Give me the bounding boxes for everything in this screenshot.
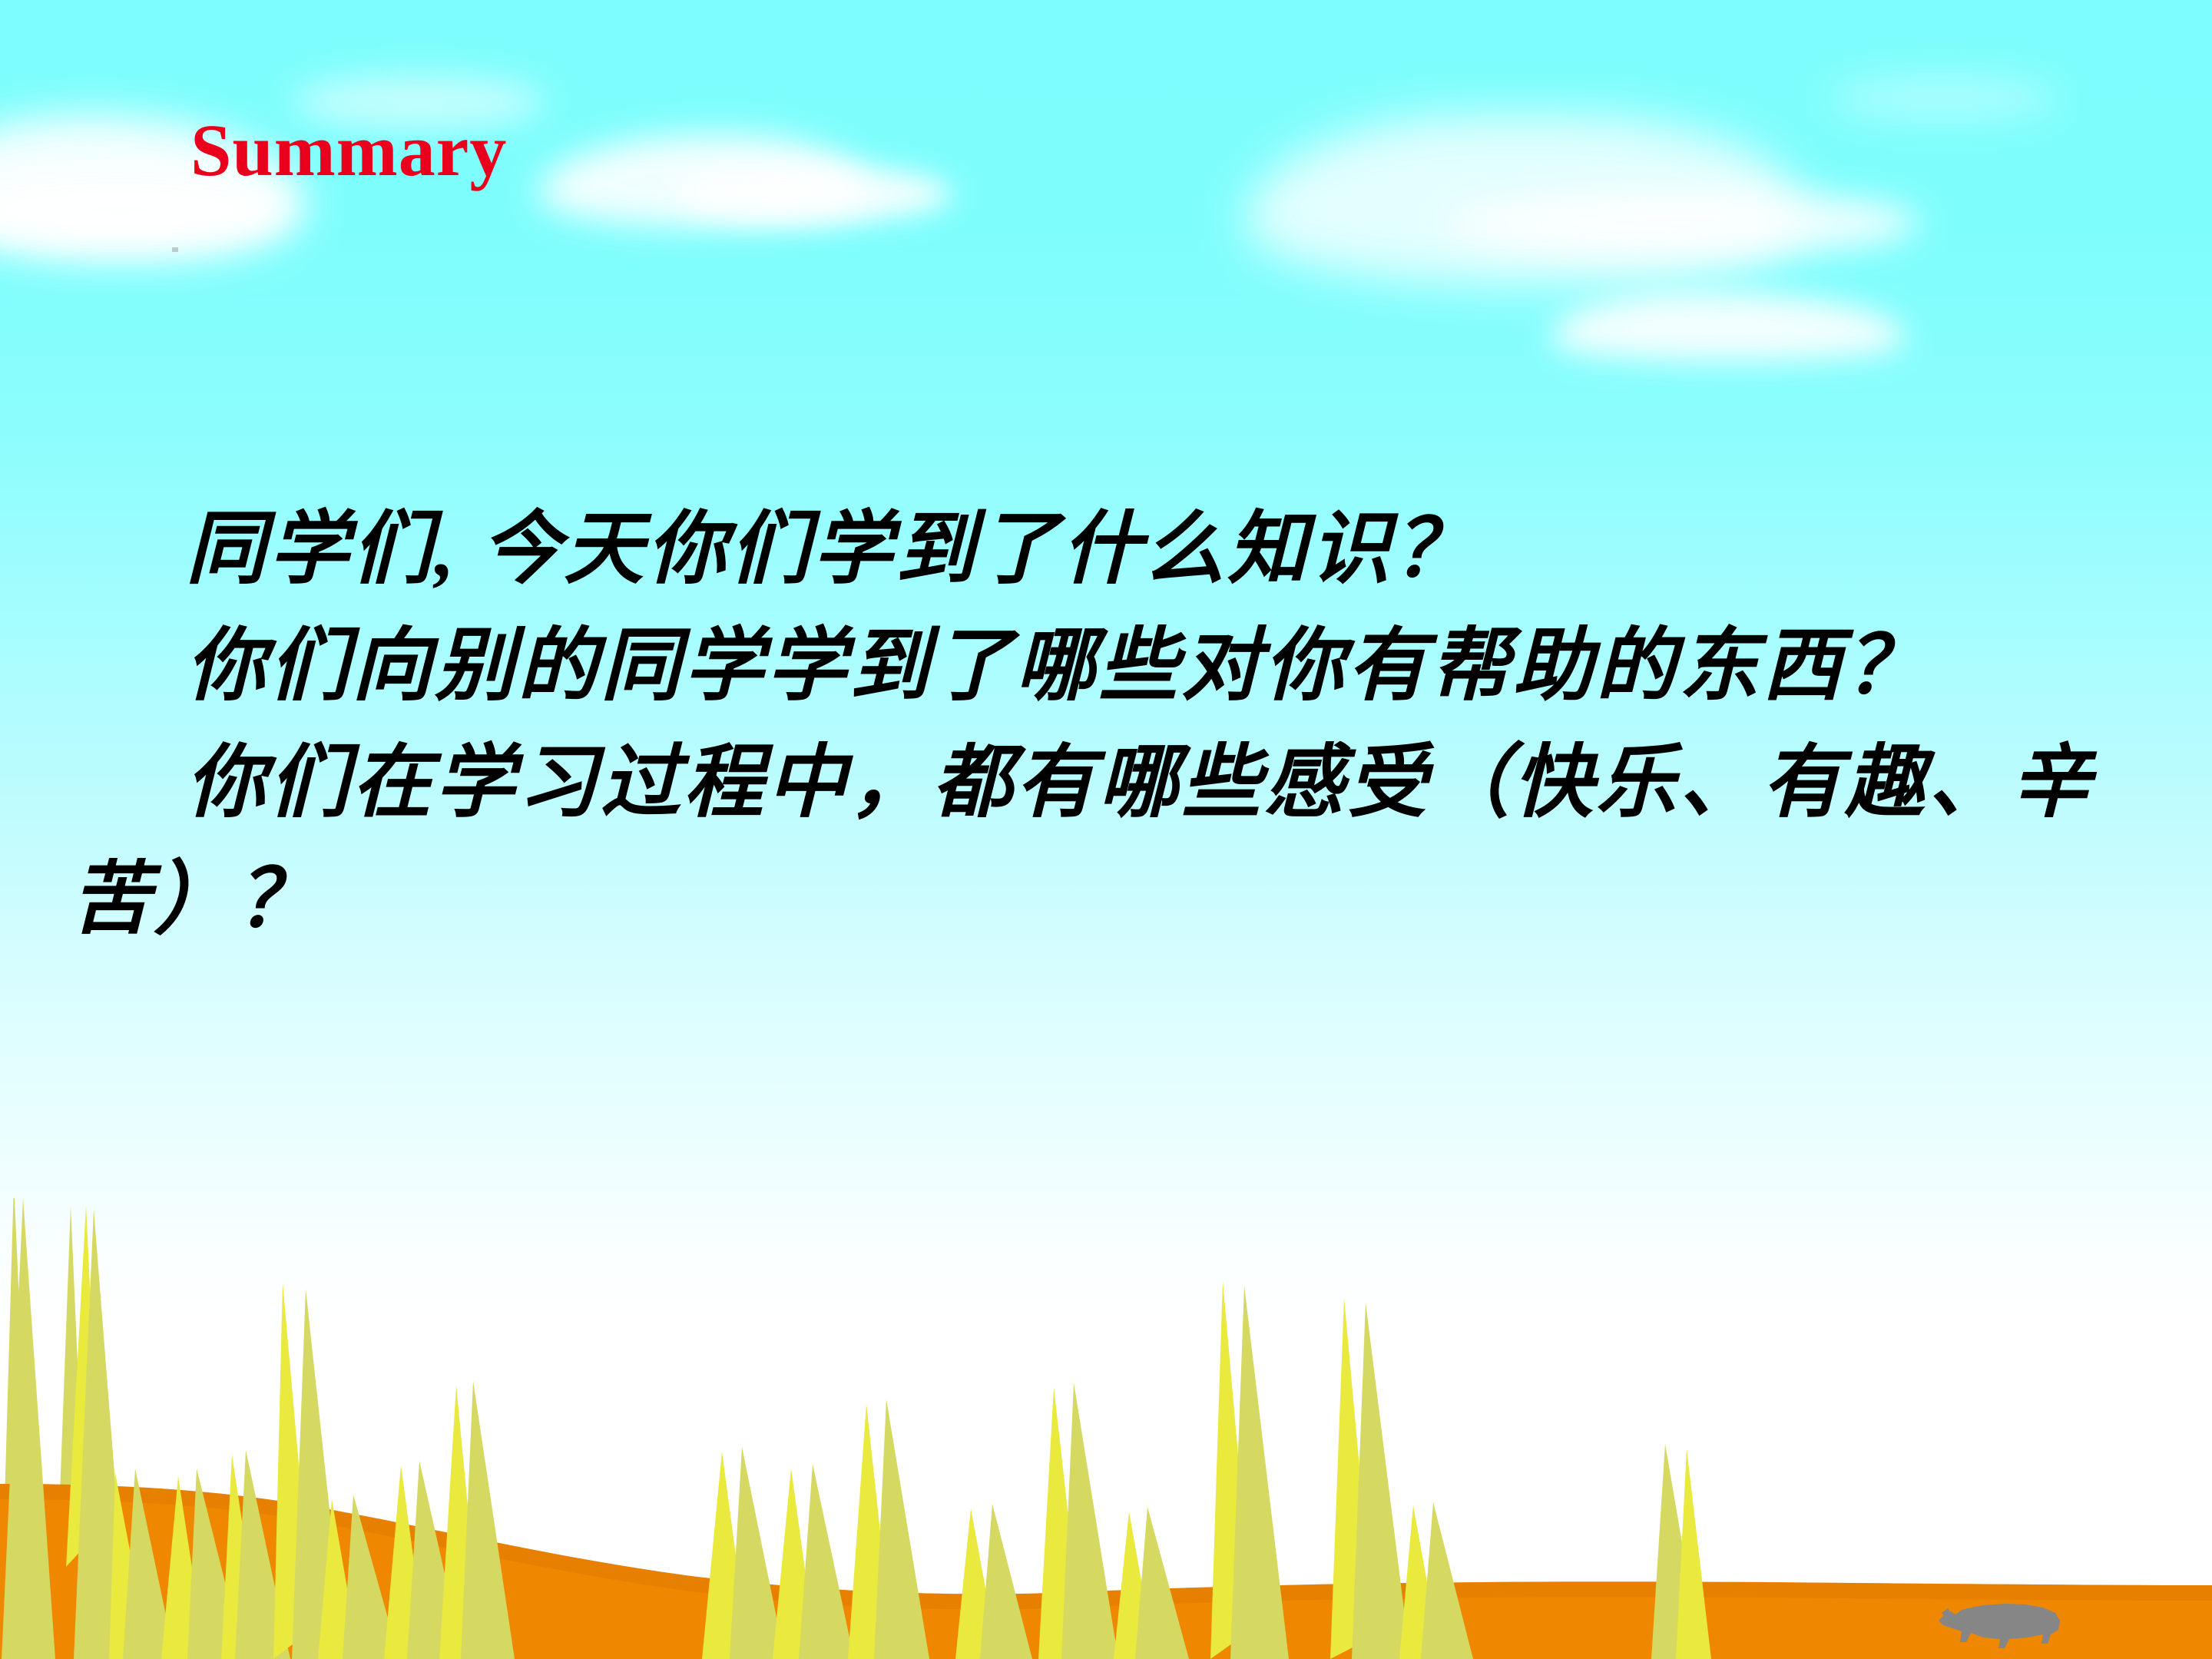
grass-blade <box>461 1381 515 1659</box>
grass-blade <box>874 1399 929 1659</box>
cow-silhouette-icon <box>1936 1598 2081 1659</box>
grass-blade <box>799 1464 854 1659</box>
grass-blade <box>1061 1382 1118 1659</box>
body-paragraph-1: 同学们, 今天你们学到了什么知识？ <box>71 492 2175 608</box>
stray-dot <box>172 247 178 252</box>
slide-canvas: Summary 同学们, 今天你们学到了什么知识？ 你们向别的同学学到了哪些对你… <box>0 0 2212 1659</box>
page-title: Summary <box>190 114 507 187</box>
grass-blade <box>980 1504 1032 1659</box>
ground-decoration <box>0 1198 2212 1659</box>
body-text-block: 同学们, 今天你们学到了什么知识？ 你们向别的同学学到了哪些对你有帮助的东西？ … <box>71 492 2175 959</box>
body-paragraph-2: 你们向别的同学学到了哪些对你有帮助的东西？ <box>71 608 2175 725</box>
grass-blade <box>1135 1507 1189 1659</box>
grass-blade <box>1421 1502 1473 1659</box>
grass-blade <box>1230 1286 1289 1659</box>
body-paragraph-3: 你们在学习过程中，都有哪些感受（快乐、有趣、辛苦）？ <box>71 725 2175 959</box>
grass-blade-group-front <box>2 1198 1711 1659</box>
grass-blade <box>1352 1303 1410 1659</box>
